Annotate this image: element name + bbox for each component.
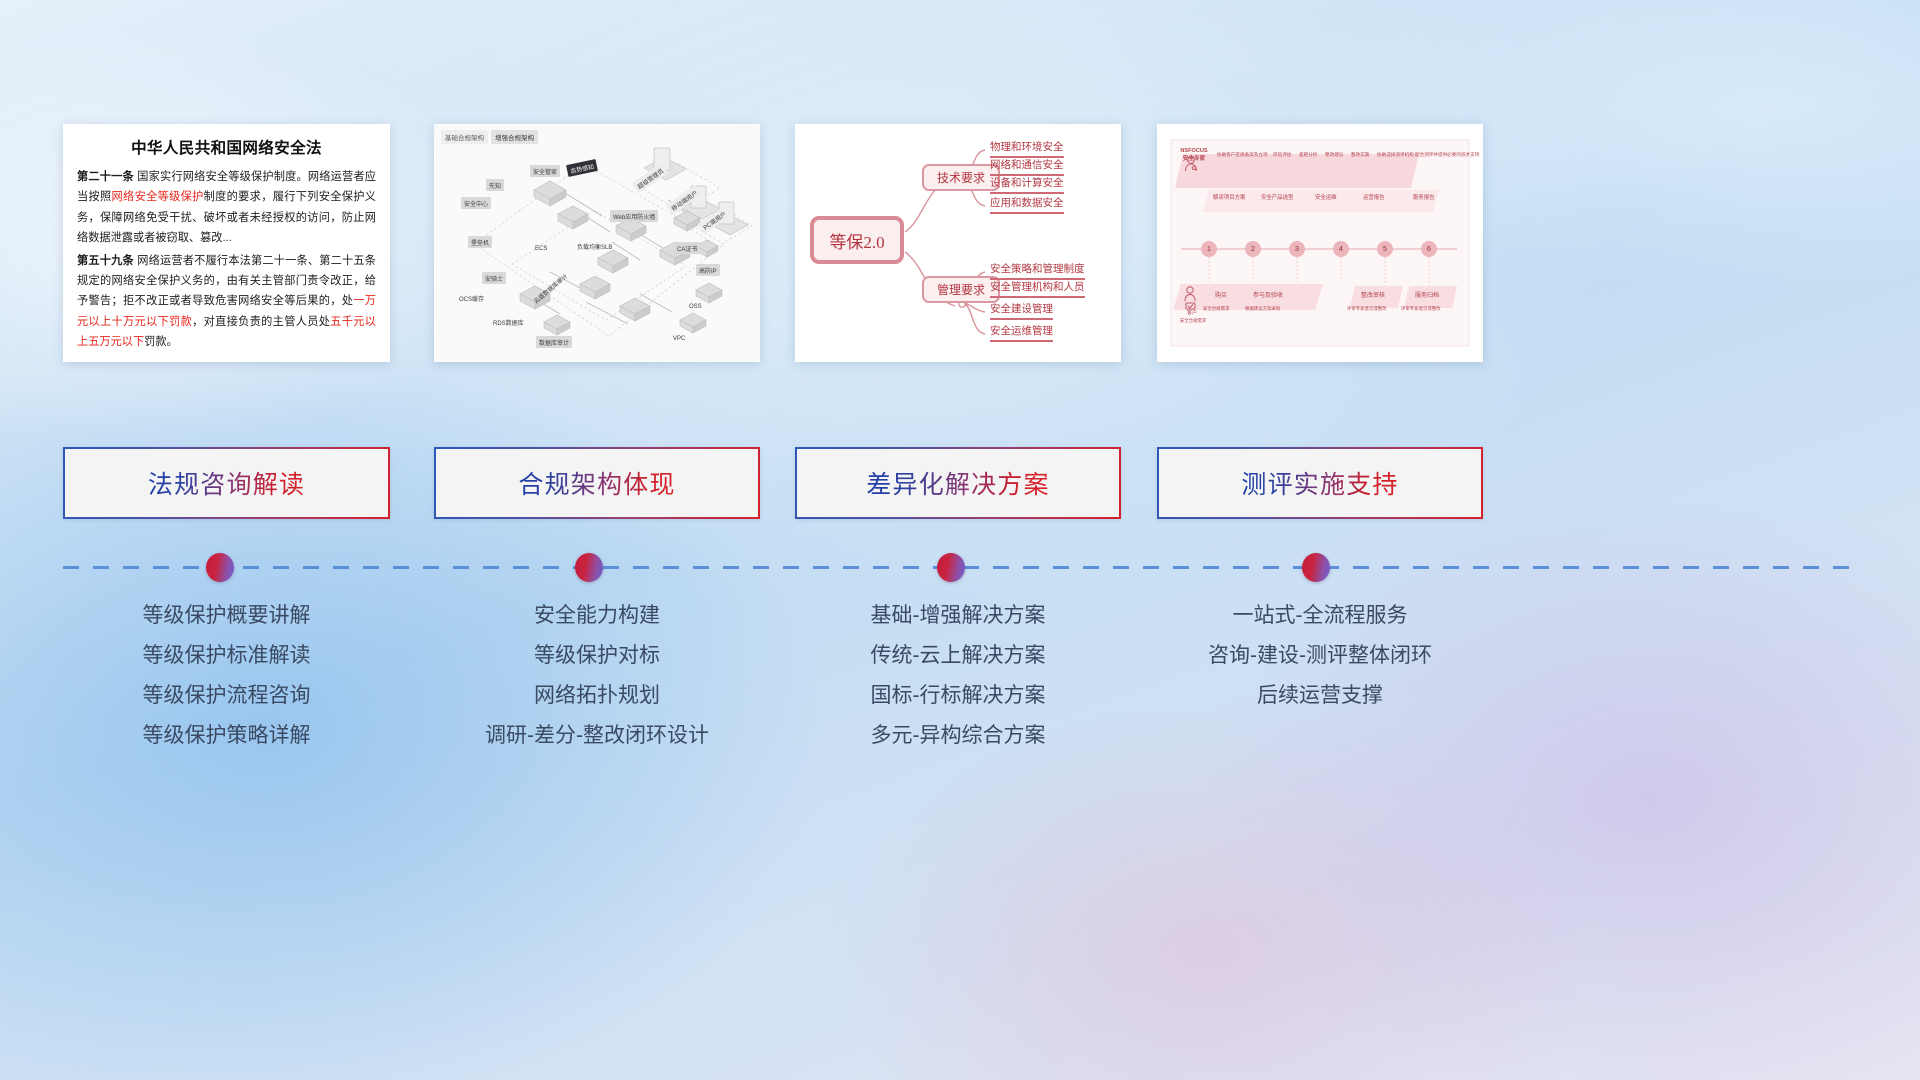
nsfocus-step-1: 1: [1201, 241, 1217, 257]
nsfocus-bottom-label-3-sub: 评审专家意见或整改: [1401, 306, 1441, 312]
law-article-59-label: 第五十九条: [77, 255, 134, 267]
nsfocus-phase-label-4: 服务报告: [1413, 195, 1435, 202]
mindmap-diagram: 等保2.0 技术要求 管理要求 物理和环境安全 网络和通信安全 设备和计算安全 …: [795, 124, 1121, 362]
arch-node-ocs-cache: OCS缓存: [456, 292, 487, 304]
arch-node-database-audit: 数据库审计: [536, 336, 572, 348]
nsfocus-bottom-label-1-sub: 根据建议方案采购: [1245, 306, 1280, 312]
arch-node-waf: Web应用防火墙: [610, 210, 658, 222]
nsfocus-step-4: 4: [1333, 241, 1349, 257]
architecture-tab-enhanced[interactable]: 增强合规架构: [491, 130, 538, 144]
arch-node-security-butler: 安全管家: [530, 165, 560, 177]
arch-node-anti-ddos-ip: 高防IP: [696, 264, 720, 276]
nsfocus-top-label-1: 风险评估: [1273, 152, 1291, 158]
arch-node-security-center: 安全中心: [461, 197, 491, 209]
card-compliance-architecture[interactable]: 基础合规架构 增强合规架构: [434, 124, 760, 362]
card-nsfocus-process[interactable]: NSFOCUS 安全专家 协助客户定级备案及立项 风险评估 差距分析 整改建议 …: [1157, 124, 1483, 362]
nsfocus-top-label-6: 配合测评并提供必要的技术支持: [1415, 152, 1479, 158]
nsfocus-step-2: 2: [1245, 241, 1261, 257]
law-article-21: 第二十一条 国家实行网络安全等级保护制度。网络运营者应当按照网络安全等级保护制度…: [77, 167, 376, 249]
section-heading-label-2: 合规架构体现: [518, 465, 675, 501]
section-heading-box-4[interactable]: 测评实施支持: [1157, 447, 1483, 519]
mindmap-leaf-app-data: 应用和数据安全: [990, 195, 1064, 214]
architecture-tabs[interactable]: 基础合规架构 增强合规架构: [441, 130, 538, 144]
law-article-59: 第五十九条 网络运营者不履行本法第二十一条、第二十五条规定的网络安全保护义务的，…: [77, 251, 376, 353]
nsfocus-phase-label-1: 安全产品选型: [1261, 195, 1293, 202]
list-item: 等级保护标准解读: [63, 645, 390, 666]
nsfocus-top-label-3: 整改建议: [1325, 152, 1343, 158]
list-item: 等级保护对标: [434, 645, 760, 666]
nsfocus-step-6: 6: [1421, 241, 1437, 257]
nsfocus-step-5: 5: [1377, 241, 1393, 257]
nsfocus-brand-subtitle: 安全专家: [1171, 156, 1217, 164]
arch-node-aegis: 安骑士: [482, 272, 506, 284]
nsfocus-top-label-5: 协助选择测评机构: [1377, 152, 1414, 158]
list-item: 等级保护概要讲解: [63, 605, 390, 626]
mindmap-root-node: 等保2.0: [810, 216, 904, 264]
section-heading-box-2[interactable]: 合规架构体现: [434, 447, 760, 519]
nsfocus-bottom-label-1-title: 参与及验收: [1253, 292, 1283, 300]
list-item: 网络拓扑规划: [434, 685, 760, 706]
arch-node-slb: 负载均衡SLB: [574, 240, 615, 252]
law-article-59-text-b: ，对直接负责的主管人员处: [192, 316, 330, 328]
section-list-1: 等级保护概要讲解 等级保护标准解读 等级保护流程咨询 等级保护策略详解: [63, 605, 390, 765]
mindmap-branch-management: 管理要求: [922, 276, 1000, 303]
arch-node-bastion-host: 堡垒机: [468, 236, 492, 248]
section-heading-label-3: 差异化解决方案: [866, 465, 1049, 501]
list-item: 传统-云上解决方案: [795, 645, 1121, 666]
nsfocus-bottom-label-0-title: 购买: [1215, 292, 1227, 300]
law-article-21-highlight: 网络安全等级保护: [112, 191, 204, 203]
card-cybersecurity-law[interactable]: 中华人民共和国网络安全法 第二十一条 国家实行网络安全等级保护制度。网络运营者应…: [63, 124, 390, 362]
mindmap-leaf-ops-mgmt: 安全运维管理: [990, 323, 1053, 342]
arch-node-oss: OSS: [686, 302, 705, 311]
section-heading-box-3[interactable]: 差异化解决方案: [795, 447, 1121, 519]
arch-node-ecs: ECS: [532, 244, 550, 253]
timeline-dot-1[interactable]: [206, 553, 234, 582]
list-item: 多元-异构综合方案: [795, 725, 1121, 746]
nsfocus-brand-name: NSFOCUS: [1171, 148, 1217, 156]
arch-node-ca-certificate: CA证书: [674, 242, 700, 254]
mindmap-leaf-network-comm: 网络和通信安全: [990, 157, 1064, 176]
section-heading-box-1[interactable]: 法规咨询解读: [63, 447, 390, 519]
mindmap-branch-technical: 技术要求: [922, 164, 1000, 191]
section-list-2: 安全能力构建 等级保护对标 网络拓扑规划 调研-差分-整改闭环设计: [434, 605, 760, 765]
law-article-21-label: 第二十一条: [77, 171, 134, 183]
timeline-dot-4[interactable]: [1302, 553, 1330, 582]
nsfocus-phase-label-2: 安全运维: [1315, 195, 1337, 202]
arch-node-rds-database: RDS数据库: [490, 316, 527, 328]
preview-cards-row: 中华人民共和国网络安全法 第二十一条 国家实行网络安全等级保护制度。网络运营者应…: [0, 124, 1920, 366]
architecture-diagram: 基础合规架构 增强合规架构: [434, 124, 760, 362]
architecture-tab-basic[interactable]: 基础合规架构: [441, 130, 488, 144]
section-heading-label-1: 法规咨询解读: [148, 465, 305, 501]
nsfocus-top-label-0: 协助客户定级备案及立项: [1217, 152, 1268, 158]
list-item: 一站式-全流程服务: [1157, 605, 1483, 626]
list-item: 等级保护策略详解: [63, 725, 390, 746]
nsfocus-phase-label-3: 运营报告: [1363, 195, 1385, 202]
nsfocus-top-label-4: 整改实施: [1351, 152, 1369, 158]
nsfocus-step-3: 3: [1289, 241, 1305, 257]
list-item: 后续运营支撑: [1157, 685, 1483, 706]
law-article-59-text-c: 罚款。: [144, 336, 178, 348]
list-item: 国标-行标解决方案: [795, 685, 1121, 706]
section-heading-label-4: 测评实施支持: [1241, 465, 1398, 501]
card-mindmap-dengbao[interactable]: 等保2.0 技术要求 管理要求 物理和环境安全 网络和通信安全 设备和计算安全 …: [795, 124, 1121, 362]
mindmap-leaf-policy-system: 安全策略和管理制度: [990, 261, 1085, 280]
list-item: 咨询-建设-测评整体闭环: [1157, 645, 1483, 666]
nsfocus-top-label-2: 差距分析: [1299, 152, 1317, 158]
section-headings-row: 法规咨询解读 合规架构体现 差异化解决方案 测评实施支持: [0, 447, 1920, 519]
nsfocus-bottom-label-2-sub: 评审专家意见或整改: [1347, 306, 1387, 312]
list-item: 安全能力构建: [434, 605, 760, 626]
law-document: 中华人民共和国网络安全法 第二十一条 国家实行网络安全等级保护制度。网络运营者应…: [63, 124, 390, 358]
nsfocus-phase-label-0: 解读项目方案: [1213, 195, 1245, 202]
section-list-4: 一站式-全流程服务 咨询-建设-测评整体闭环 后续运营支撑: [1157, 605, 1483, 725]
mindmap-leaf-construction-mgmt: 安全建设管理: [990, 301, 1053, 320]
timeline-dot-3[interactable]: [937, 553, 965, 582]
section-lists-row: 等级保护概要讲解 等级保护标准解读 等级保护流程咨询 等级保护策略详解 安全能力…: [0, 605, 1920, 805]
list-item: 等级保护流程咨询: [63, 685, 390, 706]
mindmap-leaf-org-personnel: 安全管理机构和人员: [990, 279, 1085, 298]
mindmap-leaf-physical-env: 物理和环境安全: [990, 139, 1064, 158]
arch-node-vpc: VPC: [670, 334, 688, 343]
list-item: 调研-差分-整改闭环设计: [434, 725, 760, 746]
timeline-dot-2[interactable]: [575, 553, 603, 582]
nsfocus-bottom-label-0-sub: 安全合规需求: [1203, 306, 1229, 312]
nsfocus-timeline-diagram: NSFOCUS 安全专家 协助客户定级备案及立项 风险评估 差距分析 整改建议 …: [1157, 124, 1483, 362]
timeline: [0, 566, 1920, 570]
nsfocus-bottom-label-3-title: 服务归档: [1415, 292, 1439, 300]
law-title: 中华人民共和国网络安全法: [77, 136, 376, 158]
nsfocus-customer-sub: 安全合规需求: [1167, 318, 1219, 324]
arch-node-xianzhi: 先知: [486, 179, 504, 191]
nsfocus-bottom-label-2-title: 整改审核: [1361, 292, 1385, 300]
section-list-3: 基础-增强解决方案 传统-云上解决方案 国标-行标解决方案 多元-异构综合方案: [795, 605, 1121, 765]
mindmap-leaf-device-compute: 设备和计算安全: [990, 175, 1064, 194]
list-item: 基础-增强解决方案: [795, 605, 1121, 626]
